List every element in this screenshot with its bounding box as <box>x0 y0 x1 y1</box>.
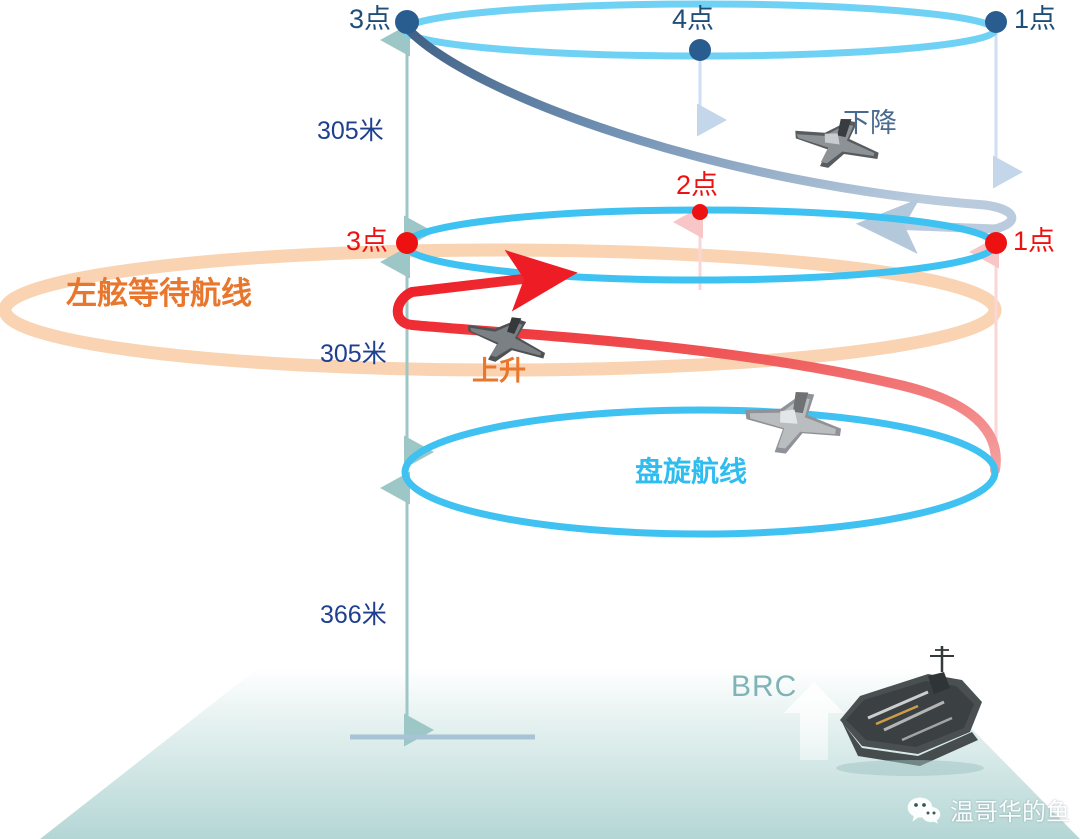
label-brc: BRC <box>731 672 797 702</box>
label-middle-1-oclock: 1点 <box>1013 228 1055 255</box>
label-ascend: 上升 <box>472 358 526 385</box>
aircraft-carrier-icon <box>836 646 984 776</box>
label-middle-2-oclock: 2点 <box>676 172 718 199</box>
label-descend: 下降 <box>843 110 897 137</box>
watermark-text: 温哥华的鱼 <box>950 792 1070 827</box>
watermark: 温哥华的鱼 <box>907 792 1070 827</box>
label-upper-1-oclock: 1点 <box>1014 6 1056 33</box>
label-holding-pattern: 左舷等待航线 <box>66 278 252 309</box>
label-upper-4-oclock: 4点 <box>672 6 714 33</box>
diagram-canvas: 3点 4点 1点 3点 2点 1点 305米 305米 366米 左舷等待航线 … <box>0 0 1080 839</box>
label-middle-3-oclock: 3点 <box>346 228 388 255</box>
label-altitude-upper: 305米 <box>317 119 384 144</box>
label-altitude-middle: 305米 <box>320 342 387 367</box>
brc-layer <box>0 0 1080 839</box>
label-altitude-lower: 366米 <box>320 603 387 628</box>
label-upper-3-oclock: 3点 <box>349 6 391 33</box>
label-circling-pattern: 盘旋航线 <box>635 458 747 486</box>
wechat-icon <box>907 796 941 824</box>
